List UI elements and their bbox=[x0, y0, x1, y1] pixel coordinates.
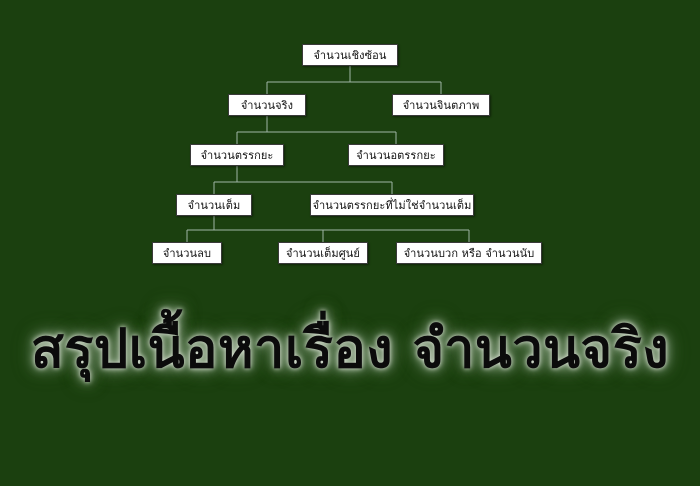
tree-node-label: จำนวนเต็มศูนย์ bbox=[286, 248, 360, 259]
tree-node-non-integer[interactable]: จำนวนตรรกยะที่ไม่ใช่จำนวนเต็ม bbox=[310, 194, 474, 216]
tree-node-label: จำนวนตรรกยะที่ไม่ใช่จำนวนเต็ม bbox=[313, 200, 472, 211]
tree-node-real[interactable]: จำนวนจริง bbox=[228, 94, 306, 116]
tree-node-rational[interactable]: จำนวนตรรกยะ bbox=[190, 144, 284, 166]
tree-node-negative[interactable]: จำนวนลบ bbox=[152, 242, 222, 264]
tree-node-label: จำนวนเต็ม bbox=[188, 200, 241, 211]
tree-node-label: จำนวนลบ bbox=[163, 248, 211, 259]
tree-node-label: จำนวนเชิงซ้อน bbox=[313, 50, 386, 61]
tree-node-label: จำนวนจริง bbox=[241, 100, 293, 111]
tree-node-irrational[interactable]: จำนวนอตรรกยะ bbox=[348, 144, 444, 166]
slide-title-block: สรุปเนื้อหาเรื่อง จำนวนจริง bbox=[0, 318, 700, 380]
tree-node-integer[interactable]: จำนวนเต็ม bbox=[176, 194, 252, 216]
tree-node-zero[interactable]: จำนวนเต็มศูนย์ bbox=[278, 242, 368, 264]
tree-node-positive[interactable]: จำนวนบวก หรือ จำนวนนับ bbox=[396, 242, 542, 264]
tree-node-label: จำนวนบวก หรือ จำนวนนับ bbox=[404, 248, 535, 259]
tree-node-label: จำนวนจินตภาพ bbox=[403, 100, 480, 111]
tree-node-complex[interactable]: จำนวนเชิงซ้อน bbox=[302, 44, 398, 66]
page-title: สรุปเนื้อหาเรื่อง จำนวนจริง bbox=[31, 318, 669, 380]
slide-canvas: จำนวนเชิงซ้อนจำนวนจริงจำนวนจินตภาพจำนวนต… bbox=[0, 0, 700, 486]
tree-node-label: จำนวนตรรกยะ bbox=[201, 150, 274, 161]
tree-node-imaginary[interactable]: จำนวนจินตภาพ bbox=[392, 94, 490, 116]
tree-node-label: จำนวนอตรรกยะ bbox=[356, 150, 436, 161]
number-classification-tree: จำนวนเชิงซ้อนจำนวนจริงจำนวนจินตภาพจำนวนต… bbox=[0, 0, 700, 300]
